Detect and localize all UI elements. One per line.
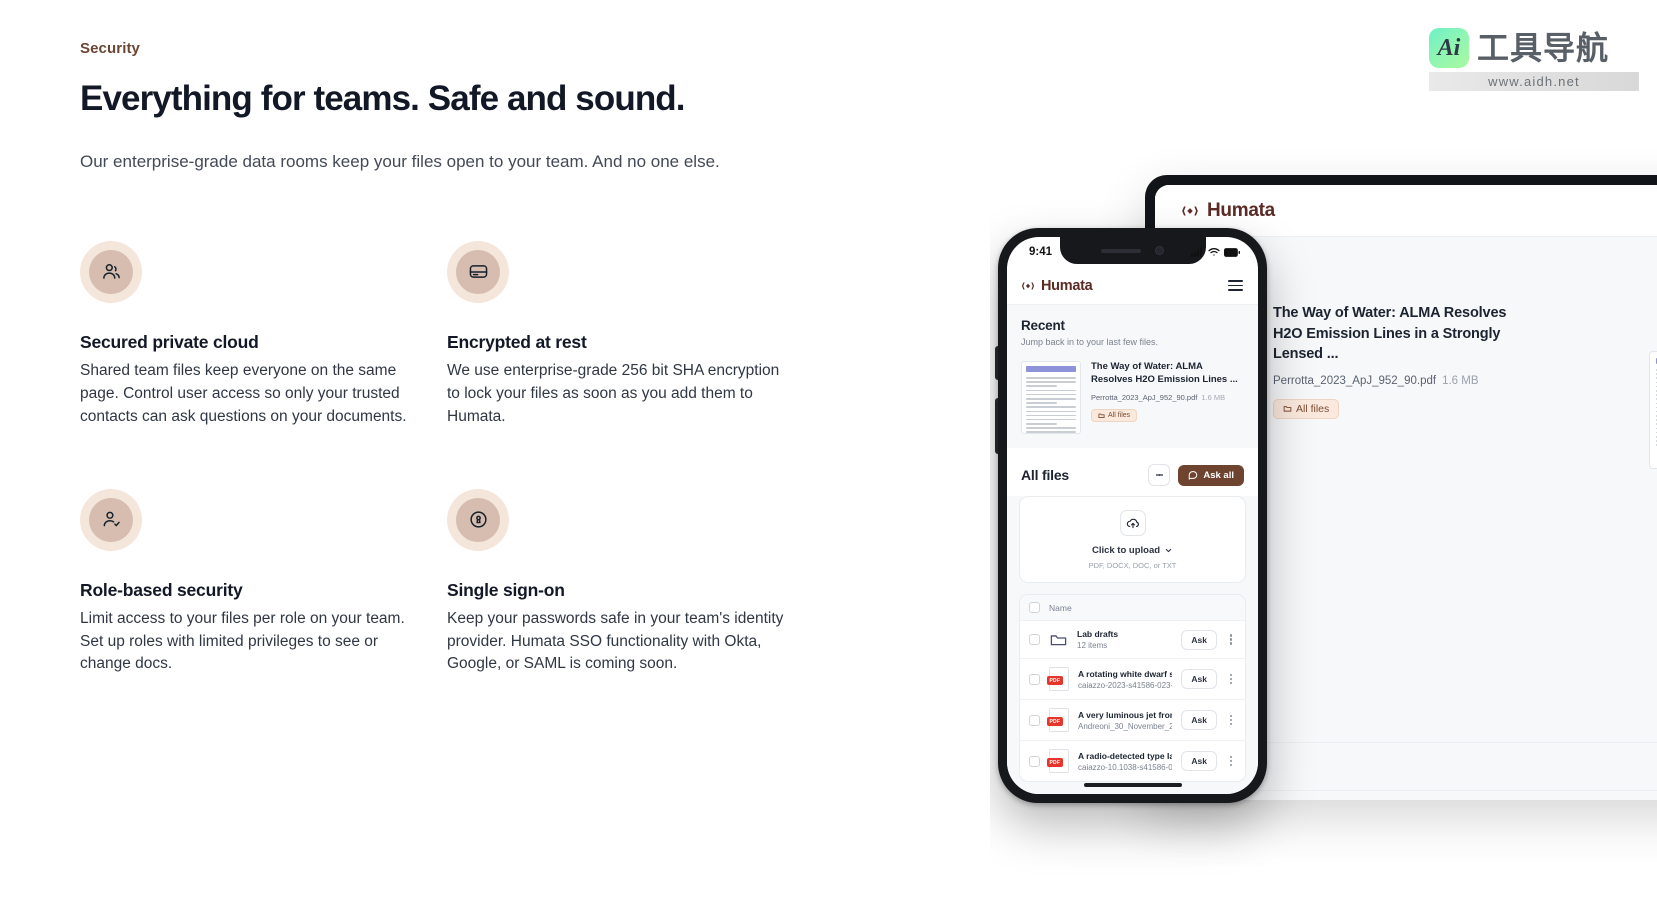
page-subtitle: Our enterprise-grade data rooms keep you… (80, 149, 900, 175)
home-indicator (1084, 783, 1182, 787)
phone-screen: 9:41 (1007, 237, 1258, 794)
ask-button[interactable]: Ask (1181, 751, 1217, 771)
page-title: Everything for teams. Safe and sound. (80, 79, 900, 119)
hero-content: Security Everything for teams. Safe and … (80, 40, 900, 676)
file-title: A rotating white dwarf shows (1078, 669, 1172, 679)
humata-logo-icon (1181, 202, 1199, 220)
folder-icon (1283, 404, 1292, 413)
recent-card-info: The Way of Water: ALMA Resolves H2O Emis… (1091, 361, 1244, 434)
humata-logo-icon (1021, 279, 1035, 293)
feature-title: Secured private cloud (80, 332, 425, 353)
recent-title: Recent (1021, 318, 1244, 333)
more-options-icon[interactable] (1148, 464, 1170, 486)
feature-title: Role-based security (80, 580, 425, 601)
more-options-icon[interactable] (1226, 755, 1236, 767)
feature-card-encrypted-at-rest: Encrypted at rest We use enterprise-grad… (447, 241, 792, 429)
ask-button[interactable]: Ask (1181, 710, 1217, 730)
more-options-icon[interactable] (1226, 673, 1236, 685)
row-checkbox[interactable] (1029, 715, 1040, 726)
file-subtitle: caiazzo-10.1038-s41586-023 (1078, 763, 1172, 772)
recent-card-title: The Way of Water: ALMA Resolves H2O Emis… (1091, 361, 1244, 387)
feature-card-single-sign-on: Single sign-on Keep your passwords safe … (447, 489, 792, 677)
feature-card-secured-private-cloud: Secured private cloud Shared team files … (80, 241, 425, 429)
click-to-upload-link[interactable]: Click to upload (1030, 545, 1235, 556)
recent-section: Recent Jump back in to your last few fil… (1007, 305, 1258, 434)
file-title: A radio-detected type Ia sup (1078, 751, 1172, 761)
recent-card-folder-pill[interactable]: All files (1091, 409, 1137, 422)
watermark-logo: Ai 工具导航 (1429, 28, 1639, 68)
document-thumbnail (1021, 361, 1081, 434)
device-mockup: Humata t few files. The Way of Water: AL… (990, 0, 1657, 897)
tablet-card-filename: Perrotta_2023_ApJ_952_90.pdf (1273, 375, 1436, 387)
file-list-table: Name Lab drafts 12 items Ask (1019, 594, 1246, 782)
file-table-header: Name (1020, 595, 1245, 621)
file-name-cell: A very luminous jet from the Andreoni_30… (1078, 710, 1172, 731)
status-indicators (1191, 247, 1240, 257)
watermark-url: www.aidh.net (1429, 72, 1639, 91)
all-files-title: All files (1021, 467, 1069, 483)
more-options-icon[interactable] (1226, 634, 1236, 646)
pdf-file-icon: PDF (1049, 667, 1069, 691)
upload-formats-label: PDF, DOCX, DOC, or TXT (1030, 561, 1235, 570)
more-options-icon[interactable] (1226, 714, 1236, 726)
phone-frame: 9:41 (998, 228, 1267, 803)
column-header-name: Name (1049, 603, 1072, 613)
file-name-cell: A rotating white dwarf shows caiazzo-202… (1078, 669, 1172, 690)
chevron-down-icon (1164, 546, 1173, 555)
tablet-card-size: 1.6 MB (1442, 375, 1478, 387)
tablet-brand-label: Humata (1207, 200, 1275, 222)
watermark-title: 工具导航 (1477, 32, 1609, 64)
table-row[interactable]: PDF A radio-detected type Ia sup caiazzo… (1020, 741, 1245, 781)
upload-cloud-icon (1120, 510, 1146, 536)
table-row[interactable]: PDF A rotating white dwarf shows caiazzo… (1020, 659, 1245, 700)
feature-description: We use enterprise-grade 256 bit SHA encr… (447, 360, 792, 429)
row-checkbox[interactable] (1029, 756, 1040, 767)
upload-link-label: Click to upload (1092, 545, 1160, 556)
recent-card-meta: Perrotta_2023_ApJ_952_90.pdf1.6 MB (1091, 393, 1244, 402)
feature-icon-ring (447, 241, 509, 303)
feature-card-role-based-security: Role-based security Limit access to your… (80, 489, 425, 677)
user-check-icon (89, 498, 133, 542)
document-thumbnail-secondary (1649, 351, 1657, 469)
tablet-pill-label: All files (1296, 403, 1329, 415)
section-eyebrow: Security (80, 40, 900, 57)
folder-icon (1049, 630, 1068, 649)
recent-card-size: 1.6 MB (1201, 393, 1225, 402)
battery-icon (1224, 248, 1240, 257)
feature-description: Keep your passwords safe in your team's … (447, 608, 792, 677)
ask-all-button[interactable]: Ask all (1178, 465, 1244, 486)
feature-title: Single sign-on (447, 580, 792, 601)
table-row[interactable]: PDF A very luminous jet from the Andreon… (1020, 700, 1245, 741)
phone-scroll-area[interactable]: Recent Jump back in to your last few fil… (1007, 305, 1258, 794)
select-all-checkbox[interactable] (1029, 602, 1040, 613)
file-subtitle: 12 items (1077, 641, 1172, 650)
phone-topbar: Humata (1007, 267, 1258, 305)
file-name-cell: Lab drafts 12 items (1077, 629, 1172, 650)
table-row[interactable]: Lab drafts 12 items Ask (1020, 621, 1245, 659)
pdf-file-icon: PDF (1049, 708, 1069, 732)
ask-all-label: Ask all (1203, 470, 1234, 481)
recent-pill-label: All files (1108, 412, 1130, 419)
feature-icon-ring (80, 241, 142, 303)
page-root: Security Everything for teams. Safe and … (0, 0, 1657, 897)
phone-status-bar: 9:41 (1007, 237, 1258, 267)
file-subtitle: Andreoni_30_November_202 (1078, 722, 1172, 731)
all-files-actions: Ask all (1148, 464, 1244, 486)
feature-description: Shared team files keep everyone on the s… (80, 360, 425, 429)
wifi-icon (1208, 247, 1220, 257)
feature-grid: Secured private cloud Shared team files … (80, 241, 900, 677)
tablet-brand[interactable]: Humata (1181, 200, 1275, 222)
upload-dropzone[interactable]: Click to upload PDF, DOCX, DOC, or TXT (1019, 496, 1246, 583)
ask-button[interactable]: Ask (1181, 669, 1217, 689)
feature-icon-ring (447, 489, 509, 551)
feature-description: Limit access to your files per role on y… (80, 608, 425, 677)
ask-button[interactable]: Ask (1181, 630, 1217, 650)
users-icon (89, 250, 133, 294)
folder-icon (1098, 412, 1105, 419)
recent-card-filename: Perrotta_2023_ApJ_952_90.pdf (1091, 393, 1197, 402)
phone-brand-label: Humata (1041, 278, 1092, 294)
hamburger-icon[interactable] (1228, 277, 1243, 294)
hard-drive-icon (456, 250, 500, 294)
signal-icon (1191, 247, 1204, 257)
ai-badge-icon: Ai (1429, 28, 1469, 68)
file-name-cell: A radio-detected type Ia sup caiazzo-10.… (1078, 751, 1172, 772)
keyhole-lock-icon (456, 498, 500, 542)
tablet-card-title: The Way of Water: ALMA Resolves H2O Emis… (1273, 303, 1508, 365)
feature-title: Encrypted at rest (447, 332, 792, 353)
status-time: 9:41 (1029, 246, 1052, 258)
all-files-header: All files Ask all (1007, 448, 1258, 496)
phone-brand[interactable]: Humata (1021, 278, 1092, 294)
recent-file-card[interactable]: The Way of Water: ALMA Resolves H2O Emis… (1021, 361, 1244, 434)
feature-icon-ring (80, 489, 142, 551)
file-subtitle: caiazzo-2023-s41586-023-0 (1078, 681, 1172, 690)
tablet-card-info: The Way of Water: ALMA Resolves H2O Emis… (1273, 301, 1508, 419)
row-checkbox[interactable] (1029, 674, 1040, 685)
tablet-card-meta: Perrotta_2023_ApJ_952_90.pdf1.6 MB (1273, 375, 1508, 387)
file-title: A very luminous jet from the (1078, 710, 1172, 720)
pdf-file-icon: PDF (1049, 749, 1069, 773)
recent-subtitle: Jump back in to your last few files. (1021, 337, 1244, 347)
watermark: Ai 工具导航 www.aidh.net (1429, 28, 1639, 91)
file-title: Lab drafts (1077, 629, 1172, 639)
tablet-card-folder-pill[interactable]: All files (1273, 399, 1339, 419)
row-checkbox[interactable] (1029, 634, 1040, 645)
chat-icon (1188, 470, 1198, 480)
